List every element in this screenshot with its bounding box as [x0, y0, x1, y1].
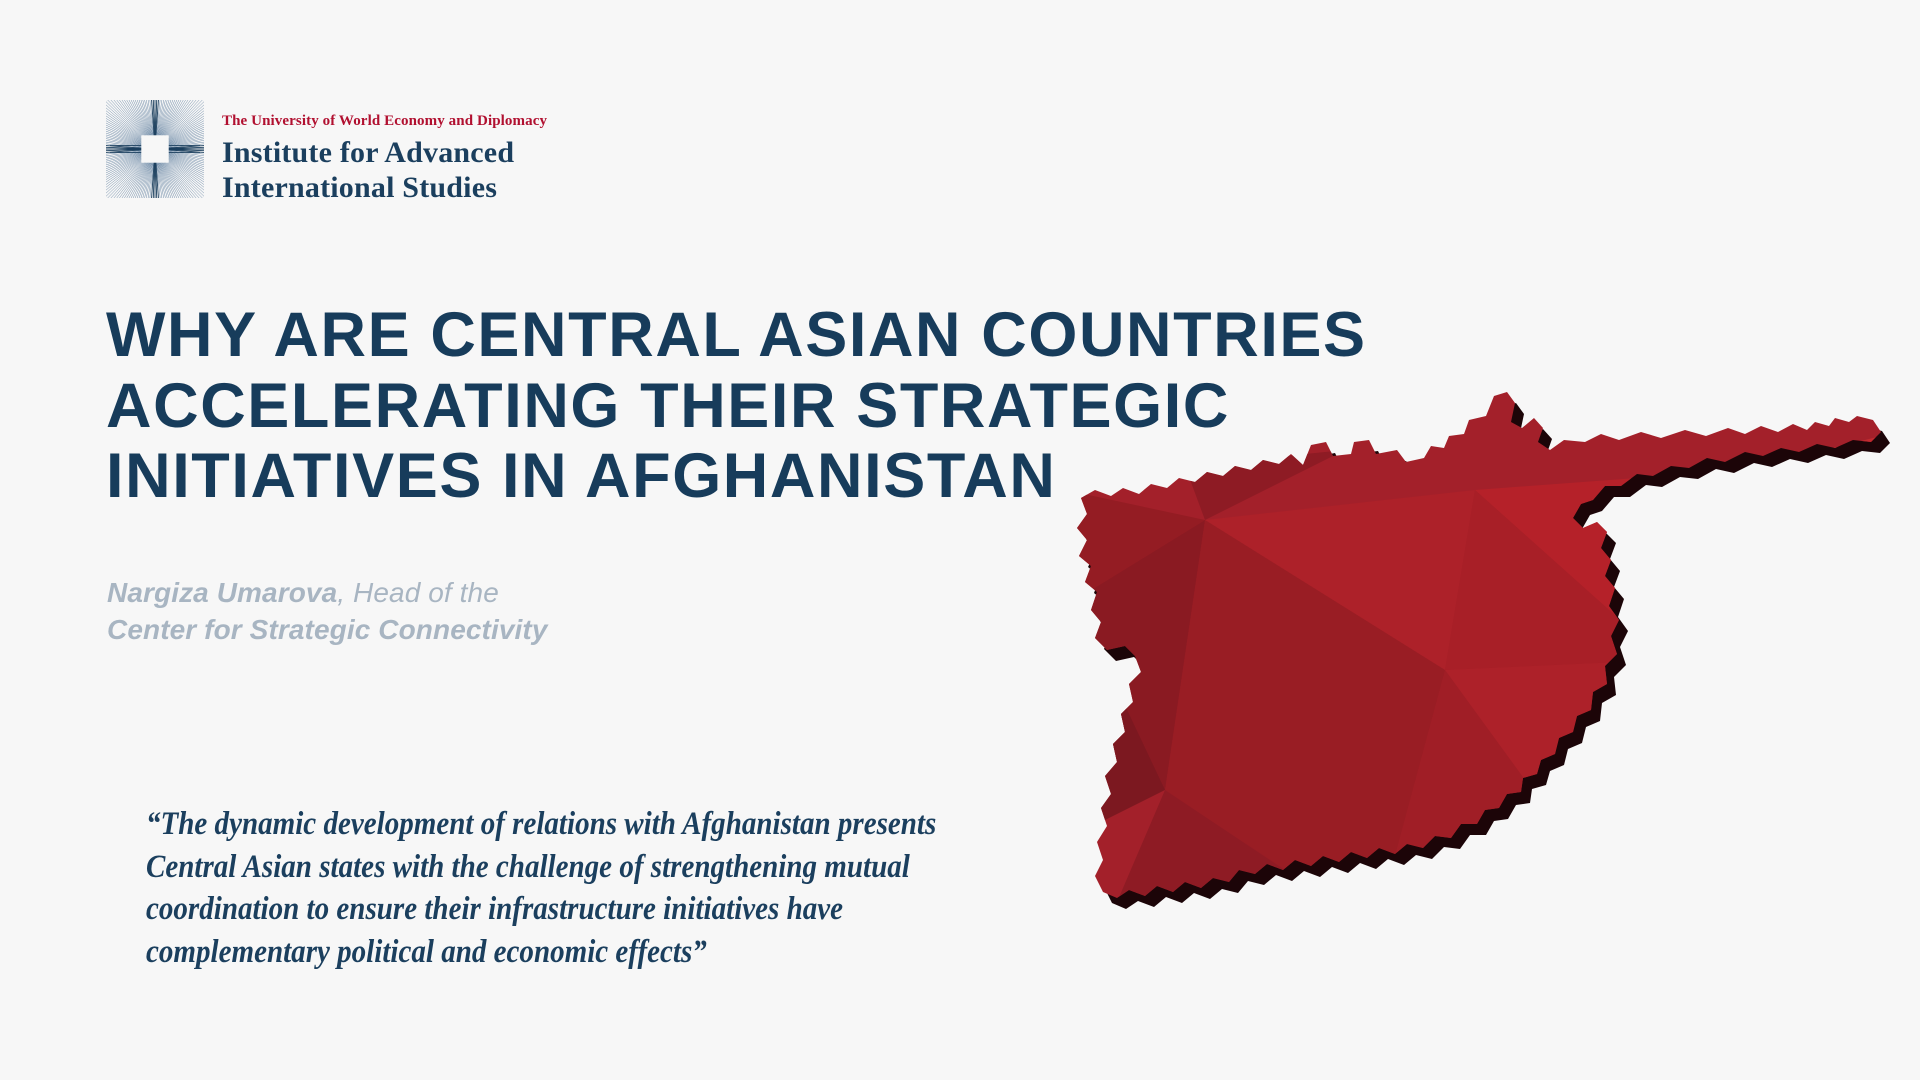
pull-quote: “The dynamic development of relations wi… — [146, 803, 938, 973]
logo-institute-line-1: Institute for Advanced — [222, 136, 514, 169]
author-role: , Head of the — [337, 577, 499, 608]
afghanistan-map-illustration — [1045, 370, 1895, 980]
logo-university-line: The University of World Economy and Dipl… — [222, 112, 547, 130]
author-name: Nargiza Umarova — [107, 577, 337, 608]
slide-root: The University of World Economy and Dipl… — [0, 0, 1920, 1080]
radial-burst-square-logo-icon — [106, 100, 204, 198]
slide-title-line-1: WHY ARE CENTRAL ASIAN COUNTRIES — [106, 300, 1446, 371]
institute-logo-block: The University of World Economy and Dipl… — [106, 100, 547, 205]
logo-institute-line-2: International Studies — [222, 171, 497, 204]
author-byline: Nargiza Umarova, Head of the Center for … — [107, 575, 807, 649]
institute-logo-text: The University of World Economy and Dipl… — [222, 100, 547, 205]
author-center: Center for Strategic Connectivity — [107, 612, 807, 649]
